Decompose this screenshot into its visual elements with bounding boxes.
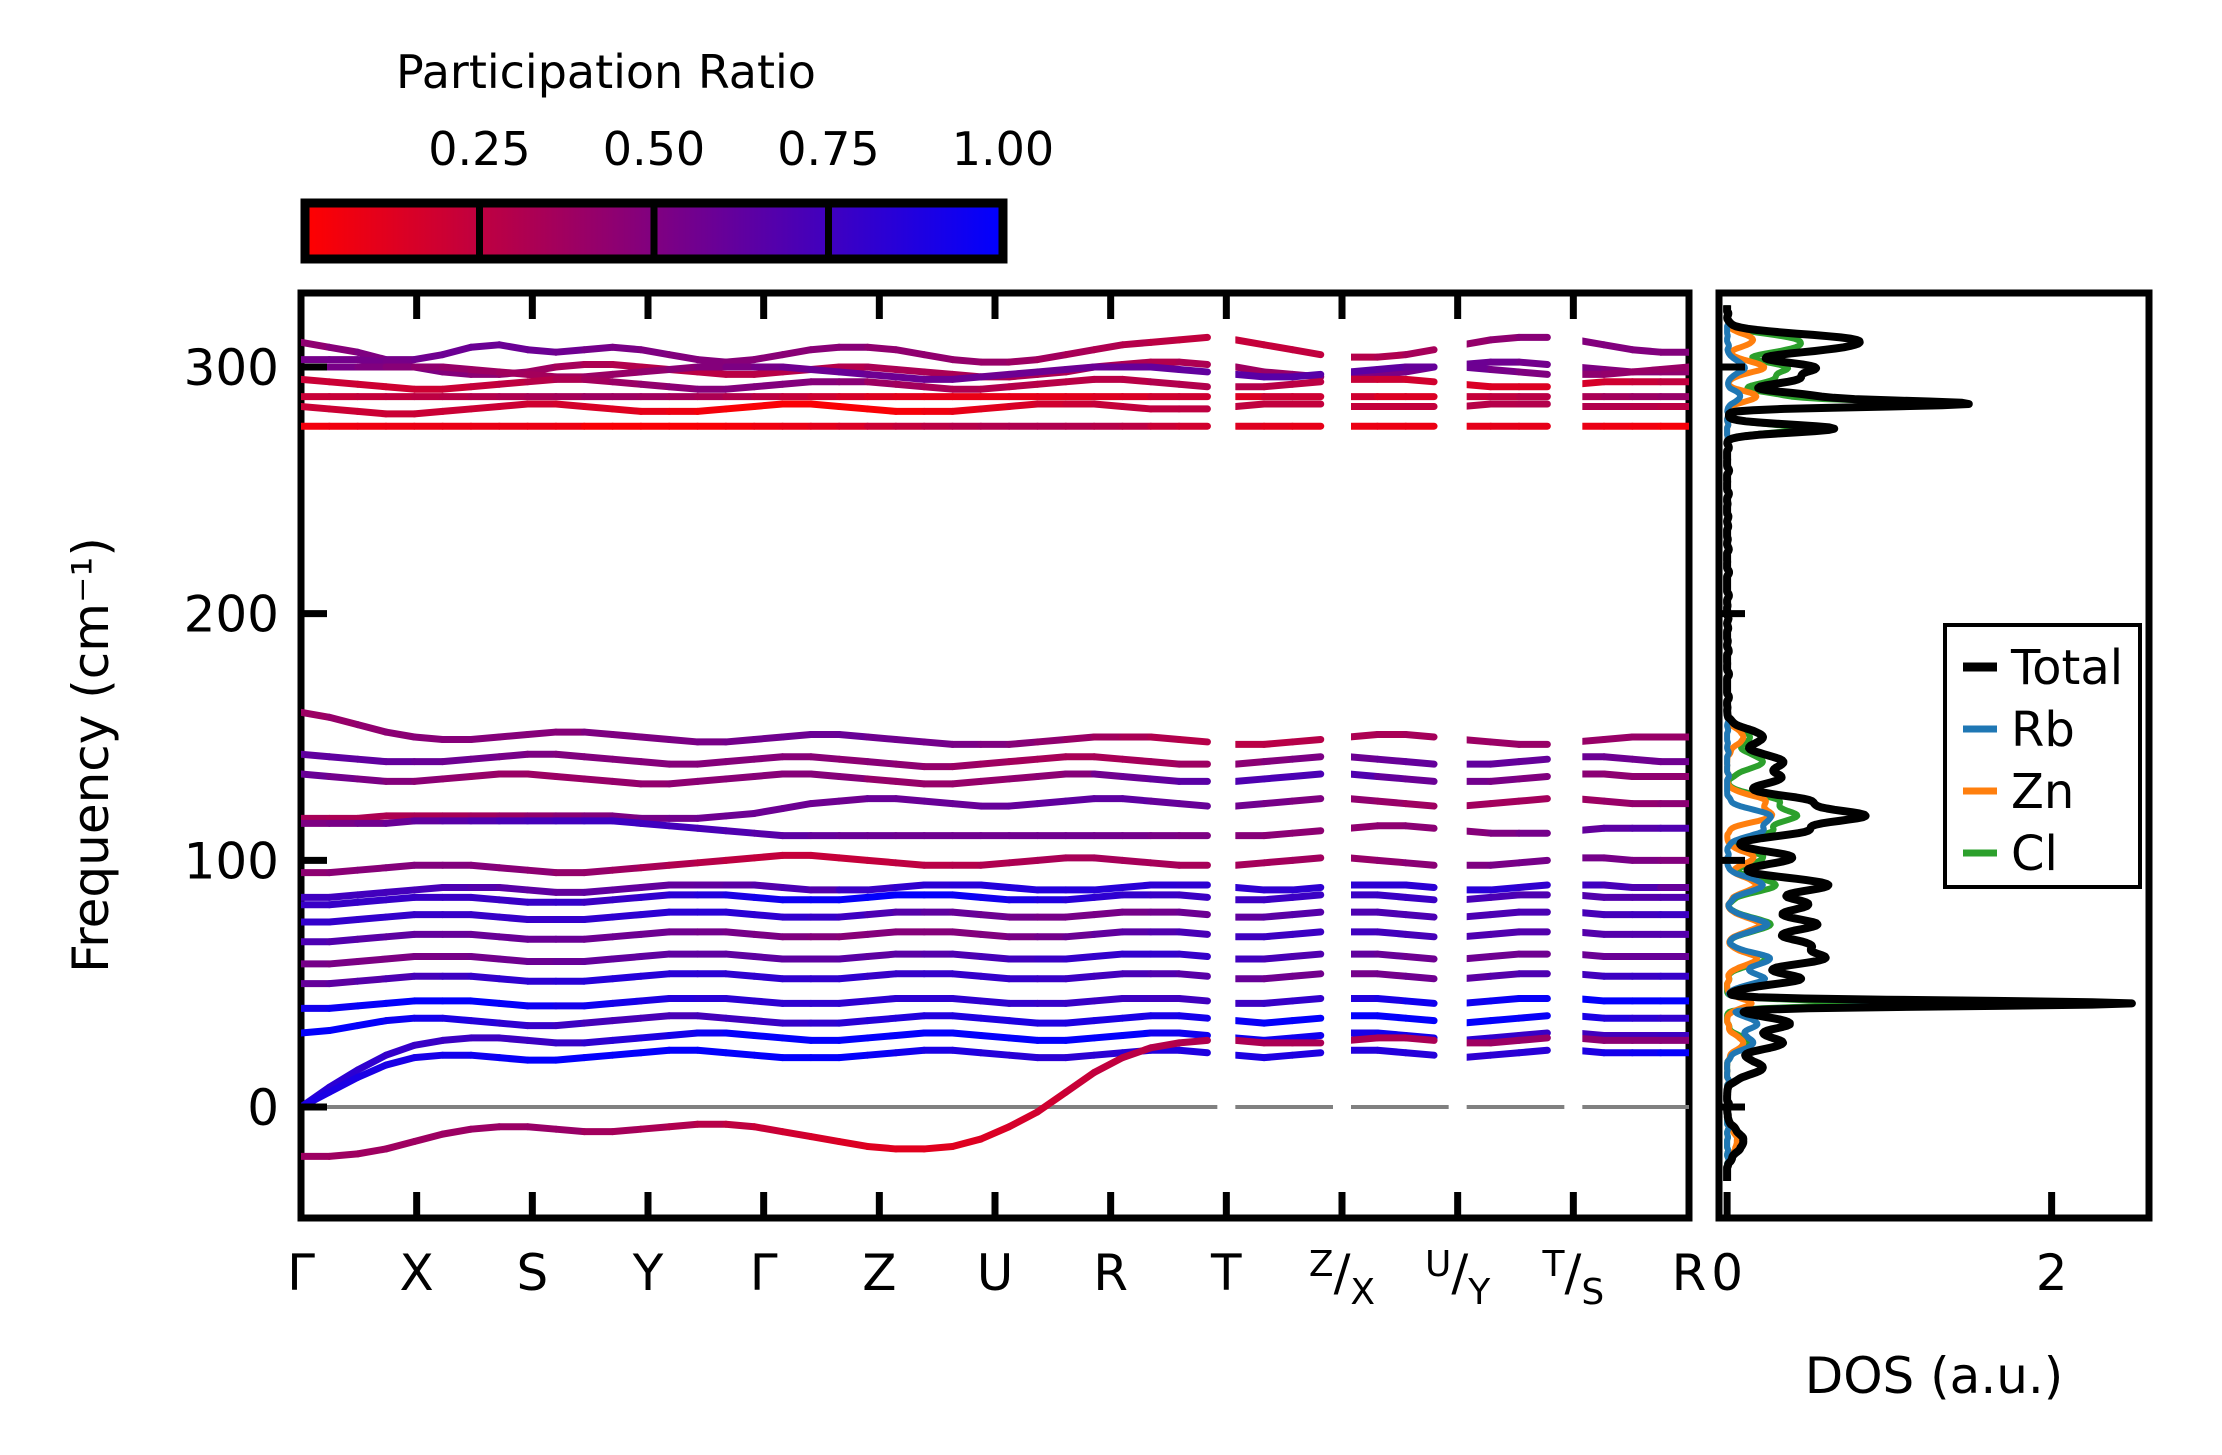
band-segment	[1151, 801, 1179, 803]
band-segment	[953, 932, 981, 934]
band-segment	[471, 1021, 499, 1023]
band-segment	[584, 979, 612, 981]
band-segment	[584, 900, 612, 902]
band-segment	[1604, 737, 1632, 739]
band-segment	[1009, 860, 1037, 862]
band-segment	[839, 735, 867, 737]
band-segment	[896, 799, 924, 801]
bands-y-axis-label: Frequency (cm⁻¹)	[62, 537, 120, 973]
band-segment	[1037, 355, 1065, 360]
band-segment	[839, 934, 867, 936]
band-segment	[1604, 372, 1632, 374]
band-segment	[613, 821, 641, 823]
band-segment	[1009, 1038, 1037, 1040]
band-segment	[613, 1129, 641, 1131]
band-segment	[1377, 860, 1405, 862]
band-segment	[839, 957, 867, 959]
band-segment	[1491, 1040, 1519, 1042]
band-segment	[839, 759, 867, 761]
band-segment	[1292, 912, 1320, 914]
band-segment	[499, 900, 527, 902]
band-segment	[301, 379, 329, 381]
band-segment	[414, 355, 442, 360]
band-segment	[953, 912, 981, 914]
band-segment	[1377, 801, 1405, 803]
band-segment	[953, 1016, 981, 1018]
band-segment	[1292, 974, 1320, 976]
band-segment	[783, 1132, 811, 1137]
band-segment	[499, 887, 527, 889]
band-segment	[953, 764, 981, 766]
colorbar-tick-label: 0.75	[777, 122, 879, 176]
band-segment	[641, 954, 669, 956]
band-segment	[1377, 932, 1405, 934]
band-segment	[1292, 887, 1320, 889]
band-segment	[1292, 350, 1320, 355]
band-segment	[556, 1058, 584, 1060]
band-segment	[1094, 998, 1122, 1000]
band-segment	[1491, 742, 1519, 744]
band-segment	[613, 735, 641, 737]
band-segment	[981, 934, 1009, 936]
band-segment	[1349, 1038, 1377, 1040]
band-segment	[584, 890, 612, 892]
band-segment	[981, 779, 1009, 781]
band-segment	[868, 932, 896, 934]
band-segment	[641, 823, 669, 825]
band-segment	[613, 915, 641, 917]
band-segment	[499, 345, 527, 350]
band-segment	[1604, 345, 1632, 350]
band-segment	[839, 1001, 867, 1003]
band-segment	[613, 1038, 641, 1040]
band-segment	[953, 804, 981, 806]
band-segment	[1236, 1021, 1264, 1023]
band-segment	[1066, 1055, 1094, 1057]
band-segment	[726, 387, 754, 389]
band-segment	[414, 887, 442, 889]
band-segment	[754, 915, 782, 917]
band-segment	[528, 870, 556, 872]
band-segment	[1094, 404, 1122, 406]
band-segment	[358, 1149, 386, 1154]
band-segment	[1037, 369, 1065, 371]
band-segment	[754, 957, 782, 959]
band-segment	[1009, 360, 1037, 362]
band-segment	[896, 384, 924, 386]
band-segment	[1236, 1040, 1264, 1042]
band-segment	[528, 1040, 556, 1042]
bands-y-tick-label: 200	[184, 586, 279, 644]
kpath-break-gap	[1333, 297, 1351, 1214]
band-segment	[528, 774, 556, 776]
band-segment	[1406, 1053, 1434, 1055]
band-segment	[386, 976, 414, 978]
band-segment	[329, 1154, 357, 1156]
band-segment	[1066, 915, 1094, 917]
kpath-break-gap	[1564, 297, 1582, 1214]
band-segment	[499, 917, 527, 919]
band-segment	[1122, 1033, 1150, 1035]
band-segment	[358, 959, 386, 961]
band-segment	[896, 764, 924, 766]
band-segment	[386, 732, 414, 737]
band-segment	[471, 915, 499, 917]
band-segment	[613, 781, 641, 783]
band-segment	[1519, 1016, 1547, 1018]
band-segment	[1122, 379, 1150, 381]
band-segment	[839, 372, 867, 374]
band-segment	[584, 779, 612, 781]
colorbar-tick-label: 0.50	[603, 122, 705, 176]
band-segment	[754, 934, 782, 936]
band-segment	[839, 858, 867, 860]
band-segment	[584, 1055, 612, 1057]
band-segment	[386, 897, 414, 899]
band-segment	[868, 954, 896, 956]
band-segment	[839, 915, 867, 917]
band-segment	[669, 355, 697, 360]
band-segment	[839, 976, 867, 978]
band-segment	[613, 897, 641, 899]
band-segment	[414, 1040, 442, 1045]
dos-x-tick-label: 2	[2036, 1244, 2068, 1302]
band-segment	[754, 855, 782, 857]
band-segment	[1009, 759, 1037, 761]
band-segment	[1094, 895, 1122, 897]
band-segment	[329, 1006, 357, 1008]
band-segment	[896, 1050, 924, 1052]
band-segment	[754, 384, 782, 386]
band-segment	[584, 870, 612, 872]
band-segment	[1264, 860, 1292, 862]
bands-y-tick-label: 300	[184, 339, 279, 397]
band-segment	[1009, 804, 1037, 806]
band-segment	[669, 863, 697, 865]
band-segment	[726, 360, 754, 362]
band-segment	[329, 757, 357, 759]
band-segment	[1066, 1038, 1094, 1040]
band-segment	[726, 831, 754, 833]
band-segment	[1264, 801, 1292, 803]
band-segment	[783, 735, 811, 737]
band-segment	[1292, 774, 1320, 776]
band-segment	[1292, 799, 1320, 801]
band-segment	[1377, 912, 1405, 914]
band-segment	[1179, 1016, 1207, 1018]
band-segment	[698, 762, 726, 764]
band-segment	[754, 355, 782, 360]
band-segment	[953, 377, 981, 379]
band-segment	[1406, 379, 1434, 381]
band-segment	[1094, 858, 1122, 860]
band-segment	[1094, 954, 1122, 956]
band-segment	[1264, 1001, 1292, 1003]
band-segment	[811, 757, 839, 759]
band-segment	[1491, 954, 1519, 956]
band-segment	[811, 347, 839, 349]
band-segment	[1037, 382, 1065, 384]
band-segment	[669, 1033, 697, 1035]
band-segment	[924, 1146, 952, 1148]
band-segment	[811, 774, 839, 776]
band-segment	[1151, 762, 1179, 764]
band-segment	[1066, 957, 1094, 959]
band-segment	[1491, 762, 1519, 764]
band-segment	[924, 742, 952, 744]
band-segment	[1066, 350, 1094, 355]
band-segment	[868, 887, 896, 889]
band-segment	[613, 372, 641, 374]
band-segment	[1406, 915, 1434, 917]
band-segment	[726, 1053, 754, 1055]
band-segment	[1264, 976, 1292, 978]
band-segment	[1377, 974, 1405, 976]
band-segment	[1037, 757, 1065, 759]
band-segment	[641, 1127, 669, 1129]
band-segment	[924, 355, 952, 360]
band-segment	[896, 1033, 924, 1035]
band-segment	[1236, 1055, 1264, 1057]
band-segment	[528, 890, 556, 892]
band-segment	[868, 1035, 896, 1037]
band-segment	[896, 863, 924, 865]
band-segment	[953, 895, 981, 897]
band-segment	[1264, 345, 1292, 350]
band-segment	[1406, 779, 1434, 781]
band-segment	[811, 404, 839, 406]
band-segment	[1292, 757, 1320, 759]
band-segment	[329, 1026, 357, 1031]
band-segment	[1604, 774, 1632, 776]
band-segment	[1179, 1040, 1207, 1042]
band-segment	[669, 1124, 697, 1126]
bands-x-tick-label: T	[1210, 1244, 1242, 1302]
band-segment	[1406, 957, 1434, 959]
band-segment	[726, 998, 754, 1000]
band-segment	[1292, 858, 1320, 860]
band-segment	[329, 870, 357, 872]
band-segment	[641, 369, 669, 371]
band-segment	[1377, 954, 1405, 956]
band-segment	[754, 404, 782, 406]
band-segment	[783, 350, 811, 355]
band-segment	[698, 816, 726, 818]
band-segment	[726, 895, 754, 897]
band-segment	[1406, 863, 1434, 865]
band-segment	[1179, 912, 1207, 914]
band-segment	[1066, 737, 1094, 739]
band-segment	[1604, 801, 1632, 803]
band-segment	[499, 372, 527, 374]
band-segment	[754, 757, 782, 759]
band-segment	[1179, 804, 1207, 806]
band-segment	[868, 779, 896, 781]
band-segment	[839, 799, 867, 801]
band-segment	[1094, 932, 1122, 934]
band-segment	[1179, 384, 1207, 386]
band-segment	[726, 1033, 754, 1035]
band-segment	[1491, 932, 1519, 934]
bands-x-tick-label: Z	[862, 1244, 896, 1302]
band-segment	[1377, 1016, 1405, 1018]
band-segment	[1151, 863, 1179, 865]
band-segment	[1406, 762, 1434, 764]
band-segment	[1519, 1038, 1547, 1040]
band-segment	[1292, 382, 1320, 384]
band-segment	[613, 1001, 641, 1003]
band-segment	[811, 1137, 839, 1142]
band-segment	[1292, 739, 1320, 741]
band-segment	[1406, 735, 1434, 737]
band-segment	[1009, 1021, 1037, 1023]
band-segment	[358, 411, 386, 413]
band-segment	[613, 1053, 641, 1055]
band-segment	[329, 902, 357, 904]
band-segment	[499, 1038, 527, 1040]
band-segment	[499, 735, 527, 737]
band-segment	[1179, 1033, 1207, 1035]
band-segment	[1292, 1053, 1320, 1055]
band-segment	[754, 809, 782, 814]
band-segment	[358, 892, 386, 894]
band-segment	[1491, 369, 1519, 371]
band-segment	[386, 387, 414, 389]
band-segment	[924, 801, 952, 803]
legend-label-total: Total	[2010, 640, 2123, 696]
band-segment	[868, 974, 896, 976]
band-segment	[443, 1018, 471, 1020]
band-segment	[471, 1001, 499, 1003]
band-segment	[1264, 957, 1292, 959]
band-segment	[1094, 757, 1122, 759]
bands-x-tick-label: S	[516, 1244, 548, 1302]
band-segment	[1094, 1053, 1122, 1055]
band-segment	[1179, 337, 1207, 339]
band-segment	[499, 382, 527, 384]
band-segment	[1491, 779, 1519, 781]
band-segment	[386, 865, 414, 867]
band-segment	[1236, 340, 1264, 345]
band-segment	[1377, 895, 1405, 897]
bands-y-tick-label: 0	[247, 1079, 279, 1137]
band-segment	[868, 762, 896, 764]
band-segment	[528, 350, 556, 352]
dos-x-axis-label: DOS (a.u.)	[1805, 1347, 2064, 1405]
band-segment	[386, 890, 414, 892]
band-segment	[783, 367, 811, 369]
band-segment	[754, 737, 782, 739]
band-segment	[726, 406, 754, 408]
band-segment	[613, 957, 641, 959]
band-segment	[329, 920, 357, 922]
band-segment	[1349, 369, 1377, 371]
band-segment	[953, 974, 981, 976]
band-segment	[1179, 369, 1207, 371]
band-segment	[528, 1127, 556, 1129]
band-segment	[981, 1018, 1009, 1020]
band-segment	[754, 1127, 782, 1132]
band-segment	[698, 372, 726, 374]
band-segment	[1292, 831, 1320, 833]
band-segment	[981, 1053, 1009, 1055]
band-segment	[386, 1001, 414, 1003]
band-segment	[1292, 895, 1320, 897]
band-segment	[329, 895, 357, 897]
band-segment	[783, 382, 811, 384]
band-segment	[499, 959, 527, 961]
band-segment	[953, 781, 981, 783]
band-segment	[868, 998, 896, 1000]
band-segment	[471, 976, 499, 978]
band-segment	[1632, 759, 1660, 761]
bands-x-tick-label: R	[1093, 1244, 1128, 1302]
band-segment	[301, 774, 329, 776]
band-segment	[1122, 406, 1150, 408]
colorbar-tick-label: 1.00	[952, 122, 1054, 176]
band-segment	[868, 1146, 896, 1148]
band-segment	[1236, 804, 1264, 806]
band-segment	[1264, 1021, 1292, 1023]
band-segment	[584, 959, 612, 961]
band-segment	[1519, 860, 1547, 862]
band-segment	[1604, 858, 1632, 860]
band-segment	[698, 779, 726, 781]
phonon-figure: Participation Ratio 0.250.500.751.00 300…	[0, 0, 2222, 1455]
band-segment	[868, 860, 896, 862]
band-segment	[1122, 342, 1150, 344]
band-segment	[499, 1023, 527, 1025]
band-segment	[953, 1033, 981, 1035]
band-segment	[1179, 1050, 1207, 1052]
band-segment	[868, 382, 896, 384]
band-segment	[1377, 998, 1405, 1000]
band-segment	[1632, 369, 1660, 371]
band-segment	[698, 360, 726, 362]
band-segment	[811, 855, 839, 857]
band-segment	[754, 1001, 782, 1003]
bands-y-tick-label: 100	[184, 832, 279, 890]
band-segment	[641, 737, 669, 739]
band-segment	[726, 858, 754, 860]
band-segment	[584, 379, 612, 381]
band-segment	[1151, 1043, 1179, 1048]
band-segment	[1349, 858, 1377, 860]
band-segment	[839, 1142, 867, 1147]
band-segment	[584, 406, 612, 408]
band-segment	[1349, 826, 1377, 828]
legend-label-cl: Cl	[2011, 826, 2058, 882]
band-segment	[896, 739, 924, 741]
dos-legend: TotalRbZnCl	[1945, 625, 2140, 887]
band-segment	[1604, 757, 1632, 759]
bands-x-tick-label: Y	[632, 1244, 664, 1302]
band-segment	[641, 895, 669, 897]
band-segment	[1349, 735, 1377, 737]
band-segment	[1179, 954, 1207, 956]
band-segment	[358, 1003, 386, 1005]
band-segment	[1236, 404, 1264, 406]
band-segment	[726, 776, 754, 778]
band-segment	[896, 369, 924, 371]
band-segment	[868, 912, 896, 914]
band-segment	[1009, 776, 1037, 778]
band-segment	[358, 1021, 386, 1026]
band-segment	[953, 1050, 981, 1052]
band-segment	[783, 804, 811, 809]
band-segment	[1122, 776, 1150, 778]
band-segment	[358, 816, 386, 818]
